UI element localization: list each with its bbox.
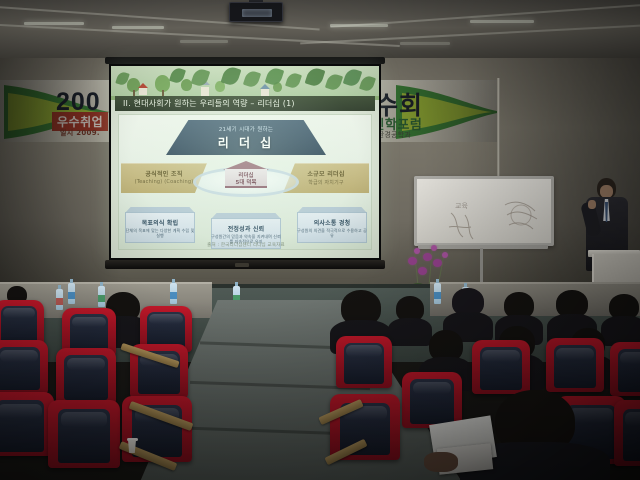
auditorium-seat — [402, 372, 462, 428]
wall-shadow-left — [0, 58, 120, 290]
screen-roller — [105, 57, 385, 64]
screen-frame: II. 현대사회가 원하는 우리들의 역량 – 리더십 (1) 21세기 시대가… — [109, 64, 381, 260]
auditorium-seat — [614, 400, 640, 466]
bottom-box-1-title: 목표의식 확립 — [125, 218, 195, 227]
whiteboard-scribble-left — [445, 209, 491, 243]
bottom-box-3-title: 의사소통 경청 — [297, 218, 367, 227]
left-panel-title: 공식적인 조직 — [121, 169, 207, 178]
slide-footer: 출처 : 한국리더십센터 리더십 교육자료 — [119, 242, 372, 248]
auditorium-seat — [0, 340, 48, 394]
audience-person — [606, 294, 640, 342]
leadership-roof-banner: 21세기 시대가 원하는 리 더 십 — [166, 120, 326, 155]
bottom-box-1-desc: 단체의 목표에 맞는 다양한 계획 수립 및 실행 — [125, 228, 195, 239]
auditorium-seat — [472, 340, 530, 394]
lecture-hall-photo: 200 우수취업 일시 2009. 수회 공진학포럼 학교 환경공학과 — [0, 0, 640, 480]
auditorium-seat — [56, 348, 116, 404]
slide-diagram: 21세기 시대가 원하는 리 더 십 공식적인 조직 (Teaching) (C… — [118, 114, 372, 250]
core-virtues-block: 리더십 5대 덕목 — [223, 161, 269, 189]
screen-bottom-bar — [105, 260, 385, 269]
hand — [424, 452, 458, 472]
slide-title-bar: II. 현대사회가 원하는 우리들의 역량 – 리더십 (1) — [115, 96, 375, 111]
auditorium-seat — [0, 392, 54, 456]
core-line2: 5대 덕목 — [223, 178, 269, 186]
auditorium-seat — [48, 400, 120, 468]
auditorium-seat — [546, 338, 604, 392]
whiteboard-scribble-right — [497, 197, 545, 235]
roof-subtitle: 21세기 시대가 원하는 — [166, 125, 326, 133]
auditorium-seat — [336, 336, 392, 388]
projected-slide: II. 현대사회가 원하는 우리들의 역량 – 리더십 (1) 21세기 시대가… — [111, 66, 379, 258]
roof-title: 리 더 십 — [166, 134, 326, 151]
ceiling — [0, 0, 640, 62]
whiteboard: 교육 — [414, 176, 554, 246]
slide-title: II. 현대사회가 원하는 우리들의 역량 – 리더십 (1) — [115, 98, 295, 109]
ceiling-projector — [229, 2, 283, 22]
bottom-box-1: 목표의식 확립 단체의 목표에 맞는 다양한 계획 수립 및 실행 — [125, 207, 195, 243]
bottom-box-3-desc: 구성원의 의견을 적극적으로 수용하고 공유 — [297, 228, 367, 239]
projection-screen: II. 현대사회가 원하는 우리들의 역량 – 리더십 (1) 21세기 시대가… — [109, 62, 381, 276]
auditorium-seat — [610, 342, 640, 396]
audience-person — [392, 296, 428, 342]
slide-decorative-header — [111, 66, 379, 100]
bottom-box-3: 의사소통 경청 구성원의 의견을 적극적으로 수용하고 공유 — [297, 207, 367, 243]
bottom-box-2-title: 전정성과 신뢰 — [211, 224, 281, 233]
presenter-hand — [588, 200, 596, 209]
